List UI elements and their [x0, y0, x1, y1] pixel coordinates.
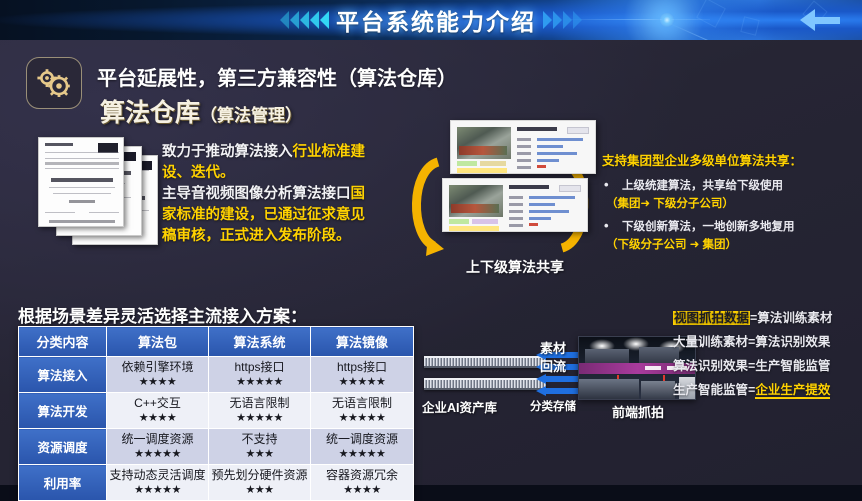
page-title: 平台系统能力介绍 [336, 3, 536, 37]
list-item: 上级统建算法，共享给下级使用 [602, 178, 854, 194]
header-title-wrap: 平台系统能力介绍 [0, 0, 862, 40]
paragraph-2-lead: 主导音视频图像分析算法接口 [162, 186, 351, 202]
equation-row: 算法识别效果=生产智能监管 [673, 354, 862, 378]
star-rating: ★★★★ [343, 484, 380, 496]
equation-right: 企业生产提效 [755, 383, 830, 399]
table-row: 算法接入 依赖引擎环境★★★★ https接口★★★★★ https接口★★★★… [19, 357, 414, 393]
table-header-cell: 算法镜像 [311, 327, 414, 357]
star-rating: ★★★ [245, 448, 273, 460]
equation-row: 视图抓拍数据=算法训练素材 [673, 306, 862, 330]
gears-icon [26, 57, 82, 109]
table-header-cell: 算法包 [107, 327, 209, 357]
comparison-table: 分类内容 算法包 算法系统 算法镜像 算法接入 依赖引擎环境★★★★ https… [18, 326, 414, 501]
server-rack-row [424, 378, 546, 390]
table-header-cell: 分类内容 [19, 327, 107, 357]
list-item-note: （集团➜ 下级分子公司） [606, 196, 854, 212]
section-heading-primary: 平台延展性，第三方兼容性（算法仓库） [97, 62, 457, 91]
table-row: 算法开发 C++交互★★★★ 无语言限制★★★★★ 无语言限制★★★★★ [19, 393, 414, 429]
table-cell: 依赖引擎环境★★★★ [107, 357, 209, 393]
table-cell: 统一调度资源★★★★★ [107, 429, 209, 465]
paragraph-1-lead: 致力于推动算法接入 [162, 144, 293, 160]
table-cell: C++交互★★★★ [107, 393, 209, 429]
document-stack-image [36, 135, 164, 250]
equation-right: 算法识别效果 [755, 335, 830, 349]
star-rating: ★★★★ [139, 412, 176, 424]
equation-row: 生产智能监管=企业生产提效 [673, 378, 862, 402]
cards-caption: 上下级算法共享 [420, 258, 610, 276]
server-rack-row [424, 356, 546, 368]
table-cell: 不支持★★★ [209, 429, 311, 465]
star-rating: ★★★ [245, 484, 273, 496]
algorithm-share-cards [424, 118, 604, 248]
table-title: 根据场景差异灵活选择主流接入方案： [18, 302, 307, 327]
table-cell: 预先划分硬件资源★★★ [209, 465, 311, 501]
equation-right: 算法训练素材 [757, 311, 832, 325]
star-rating: ★★★★★ [134, 484, 181, 496]
table-header-row: 分类内容 算法包 算法系统 算法镜像 [19, 327, 414, 357]
chevron-left-group-icon [280, 11, 329, 29]
equation-left: 大量训练素材 [673, 335, 748, 349]
page-header: 平台系统能力介绍 [0, 0, 862, 40]
equation-left: 算法识别效果 [673, 359, 748, 373]
star-rating: ★★★★★ [339, 448, 386, 460]
algorithm-card[interactable] [442, 178, 588, 232]
server-rack-image [424, 356, 546, 398]
table-row: 利用率 支持动态灵活调度★★★★★ 预先划分硬件资源★★★ 容器资源冗余★★★★ [19, 465, 414, 501]
table-cell: https接口★★★★★ [209, 357, 311, 393]
equation-row: 大量训练素材=算法识别效果 [673, 330, 862, 354]
star-rating: ★★★★★ [339, 376, 386, 388]
table-cell: https接口★★★★★ [311, 357, 414, 393]
equation-left: 生产智能监管 [673, 383, 748, 397]
table-cell: 统一调度资源★★★★★ [311, 429, 414, 465]
list-item: 下级创新算法，一地创新多地复用 [602, 219, 854, 235]
table-header-cell: 算法系统 [209, 327, 311, 357]
slide-body: 平台延展性，第三方兼容性（算法仓库） 算法仓库（算法管理） [0, 40, 862, 485]
row-label: 算法开发 [19, 393, 107, 429]
row-label: 利用率 [19, 465, 107, 501]
classified-storage-label: 分类存储 [528, 400, 578, 415]
sharing-title: 支持集团型企业多级单位算法共享： [602, 150, 802, 169]
data-flow-label: 素材回流 [540, 340, 566, 376]
star-rating: ★★★★★ [236, 412, 283, 424]
list-item-note: （下级分子公司 ➜ 集团） [606, 237, 854, 253]
chevron-right-group-icon [543, 11, 582, 29]
section-heading-secondary: 算法仓库（算法管理） [100, 93, 302, 129]
star-rating: ★★★★★ [236, 376, 283, 388]
equation-list: 视图抓拍数据=算法训练素材 大量训练素材=算法识别效果 算法识别效果=生产智能监… [673, 306, 862, 402]
star-rating: ★★★★★ [134, 448, 181, 460]
algorithm-card[interactable] [450, 120, 596, 174]
document-page-front [38, 137, 124, 227]
table-cell: 支持动态灵活调度★★★★★ [107, 465, 209, 501]
equation-left: 视图抓拍数据 [673, 311, 750, 325]
table-row: 资源调度 统一调度资源★★★★★ 不支持★★★ 统一调度资源★★★★★ [19, 429, 414, 465]
sharing-bullet-list: 上级统建算法，共享给下级使用 （集团➜ 下级分子公司） 下级创新算法，一地创新多… [602, 178, 854, 260]
row-label: 算法接入 [19, 357, 107, 393]
asset-library-label: 企业AI资产库 [422, 400, 527, 416]
table-cell: 容器资源冗余★★★★ [311, 465, 414, 501]
heading-sub-text: （算法管理） [200, 106, 302, 125]
heading-main-text: 算法仓库 [100, 99, 200, 127]
table-cell: 无语言限制★★★★★ [311, 393, 414, 429]
front-capture-label: 前端抓拍 [578, 402, 698, 421]
equation-right: 生产智能监管 [755, 359, 830, 373]
back-arrow-icon[interactable] [800, 9, 840, 31]
table-cell: 无语言限制★★★★★ [209, 393, 311, 429]
star-rating: ★★★★ [139, 376, 176, 388]
intro-paragraph: 致力于推动算法接入行业标准建设、迭代。 主导音视频图像分析算法接口国家标准的建设… [162, 142, 374, 247]
row-label: 资源调度 [19, 429, 107, 465]
star-rating: ★★★★★ [339, 412, 386, 424]
